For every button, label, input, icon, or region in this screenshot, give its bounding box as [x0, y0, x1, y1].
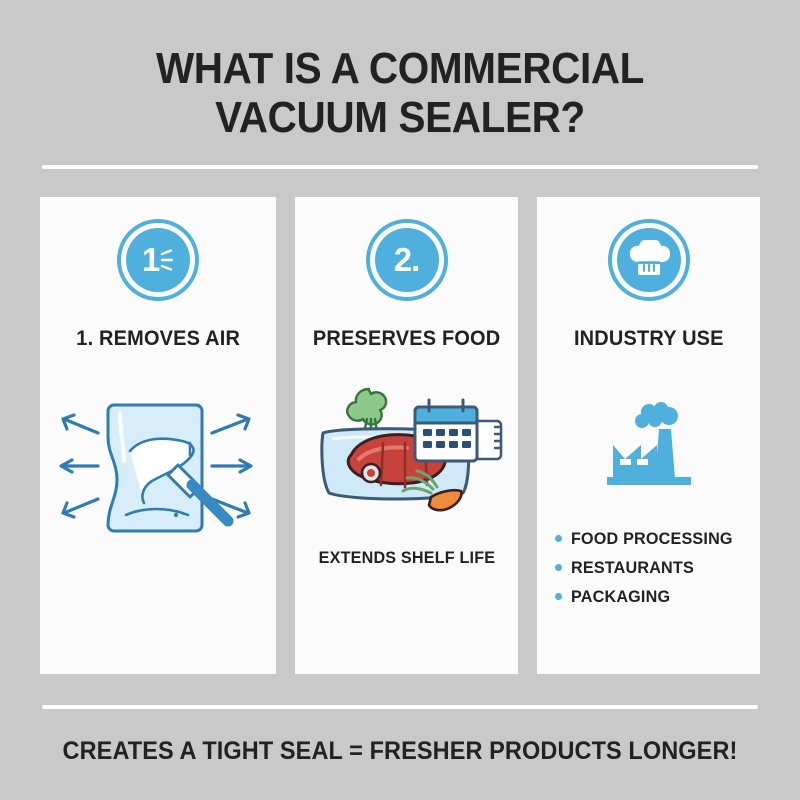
card-row: 1 1. REMOVES AIR [0, 197, 800, 674]
chef-hat-icon [628, 240, 670, 280]
card-2-label: PRESERVES FOOD [313, 327, 500, 351]
card-industry-use[interactable]: INDUSTRY USE [537, 197, 760, 674]
bullet-dot-icon [555, 535, 562, 542]
card-3-label: INDUSTRY USE [574, 327, 724, 351]
badge-2-inner: 2. [375, 228, 439, 292]
title-line-2: VACUUM SEALER? [69, 93, 731, 142]
vacuum-sealed-bag-with-air-arrows-icon [52, 393, 264, 543]
card-3-art [597, 399, 701, 495]
card-removes-air[interactable]: 1 1. REMOVES AIR [40, 197, 276, 674]
badge-2: 2. [366, 219, 448, 301]
card-2-caption: EXTENDS SHELF LIFE [318, 548, 495, 568]
factory-with-smoke-icon [597, 399, 701, 495]
bullet-label: PACKAGING [571, 587, 670, 607]
header-divider [42, 165, 758, 169]
title-line-1: WHAT IS A COMMERCIAL [69, 44, 731, 93]
card-1-art [52, 393, 264, 543]
card-preserves-food[interactable]: 2. PRESERVES FOOD [295, 197, 518, 674]
badge-1: 1 [117, 219, 199, 301]
industry-use-list: FOOD PROCESSING RESTAURANTS PACKAGING [555, 529, 741, 616]
card-1-label: 1. REMOVES AIR [76, 327, 240, 351]
bullet-label: FOOD PROCESSING [571, 529, 733, 549]
footer-tagline: CREATES A TIGHT SEAL = FRESHER PRODUCTS … [24, 737, 776, 766]
badge-3-inner [617, 228, 681, 292]
badge-1-inner: 1 [126, 228, 190, 292]
list-item[interactable]: PACKAGING [555, 587, 741, 607]
bullet-label: RESTAURANTS [571, 558, 694, 578]
card-2-art [309, 381, 505, 531]
sealed-steak-with-vegetables-and-calendar-icon [309, 381, 505, 531]
list-item[interactable]: FOOD PROCESSING [555, 529, 741, 549]
bullet-dot-icon [555, 564, 562, 571]
number-one-with-air-lines-icon: 1 [142, 243, 174, 276]
badge-3 [608, 219, 690, 301]
page-title: WHAT IS A COMMERCIAL VACUUM SEALER? [0, 0, 800, 143]
badge-1-number: 1 [142, 243, 159, 276]
bullet-dot-icon [555, 593, 562, 600]
list-item[interactable]: RESTAURANTS [555, 558, 741, 578]
number-two-icon: 2. [394, 243, 420, 276]
footer-divider [42, 705, 758, 709]
infographic-poster: WHAT IS A COMMERCIAL VACUUM SEALER? 1 [0, 0, 800, 800]
